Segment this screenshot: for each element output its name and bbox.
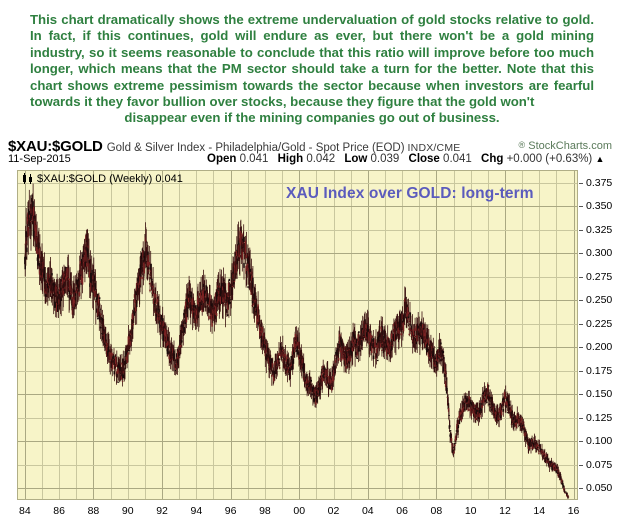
change-value: +0.000 (+0.63%) — [507, 153, 593, 165]
candlestick-group — [25, 184, 569, 499]
close-value: 0.041 — [443, 153, 472, 165]
y-tick-label: 0.100 — [586, 435, 612, 447]
y-tick-label: 0.350 — [586, 200, 612, 212]
y-tick-mark — [579, 277, 583, 278]
y-tick-label: 0.225 — [586, 318, 612, 330]
y-tick-mark — [579, 441, 583, 442]
x-tick-label: 88 — [88, 505, 100, 517]
y-tick-mark — [579, 347, 583, 348]
x-tick-label: 92 — [156, 505, 168, 517]
y-tick-label: 0.375 — [586, 177, 612, 189]
x-tick-label: 10 — [465, 505, 477, 517]
ohlc-summary: Open 0.041 High 0.042 Low 0.039 Close 0.… — [207, 153, 604, 165]
y-tick-mark — [579, 253, 583, 254]
chart-header: $XAU:$GOLDGold & Silver Index - Philadel… — [0, 136, 620, 168]
y-tick-label: 0.050 — [586, 482, 612, 494]
x-tick-label: 96 — [225, 505, 237, 517]
high-value: 0.042 — [306, 153, 335, 165]
y-tick-mark — [579, 183, 583, 184]
y-tick-label: 0.075 — [586, 459, 612, 471]
open-label: Open — [207, 153, 236, 165]
y-tick-mark — [579, 418, 583, 419]
x-tick-label: 84 — [19, 505, 31, 517]
y-tick-mark — [579, 206, 583, 207]
stockcharts-branding: ® StockCharts.com — [519, 140, 612, 152]
x-tick-label: 04 — [362, 505, 374, 517]
price-series — [18, 171, 577, 499]
commentary-text: This chart dramatically shows the extrem… — [30, 12, 594, 127]
close-label: Close — [409, 153, 440, 165]
y-tick-label: 0.200 — [586, 341, 612, 353]
x-tick-label: 94 — [190, 505, 202, 517]
y-tick-label: 0.300 — [586, 247, 612, 259]
high-label: High — [278, 153, 304, 165]
y-tick-label: 0.175 — [586, 365, 612, 377]
x-tick-label: 86 — [53, 505, 65, 517]
y-tick-mark — [579, 300, 583, 301]
commentary-block: This chart dramatically shows the extrem… — [0, 0, 620, 136]
x-tick-label: 14 — [533, 505, 545, 517]
candlestick-icon — [22, 173, 34, 184]
y-tick-mark — [579, 465, 583, 466]
y-axis: 0.3750.3500.3250.3000.2750.2500.2250.200… — [579, 170, 620, 502]
change-label: Chg — [481, 153, 503, 165]
y-tick-mark — [579, 488, 583, 489]
open-value: 0.041 — [240, 153, 269, 165]
y-tick-label: 0.125 — [586, 412, 612, 424]
x-tick-label: 16 — [568, 505, 580, 517]
y-tick-mark — [579, 371, 583, 372]
low-value: 0.039 — [371, 153, 400, 165]
registered-mark-icon: ® — [519, 140, 526, 150]
x-tick-label: 12 — [499, 505, 511, 517]
chart-plot-area[interactable]: $XAU:$GOLD (Weekly) 0.041 XAU Index over… — [17, 170, 578, 500]
x-tick-label: 08 — [431, 505, 443, 517]
y-tick-label: 0.325 — [586, 224, 612, 236]
brand-name: StockCharts.com — [528, 140, 612, 152]
x-tick-label: 98 — [259, 505, 271, 517]
low-label: Low — [344, 153, 367, 165]
chart-title-annotation: XAU Index over GOLD: long-term — [286, 185, 534, 203]
legend-label: $XAU:$GOLD (Weekly) 0.041 — [37, 173, 183, 185]
x-tick-label: 06 — [396, 505, 408, 517]
commentary-body: This chart dramatically shows the extrem… — [30, 12, 594, 109]
x-tick-label: 90 — [122, 505, 134, 517]
x-axis: 8486889092949698000204060810121416 — [0, 502, 620, 524]
x-tick-label: 02 — [328, 505, 340, 517]
y-tick-label: 0.275 — [586, 271, 612, 283]
y-tick-label: 0.150 — [586, 388, 612, 400]
y-tick-mark — [579, 230, 583, 231]
x-tick-label: 00 — [293, 505, 305, 517]
y-tick-mark — [579, 394, 583, 395]
change-up-arrow-icon: ▲ — [595, 154, 604, 164]
chart-legend: $XAU:$GOLD (Weekly) 0.041 — [22, 173, 183, 185]
commentary-last-line: disappear even if the mining companies g… — [30, 110, 594, 126]
y-tick-label: 0.250 — [586, 294, 612, 306]
quote-date: 11-Sep-2015 — [8, 153, 71, 165]
y-tick-mark — [579, 324, 583, 325]
